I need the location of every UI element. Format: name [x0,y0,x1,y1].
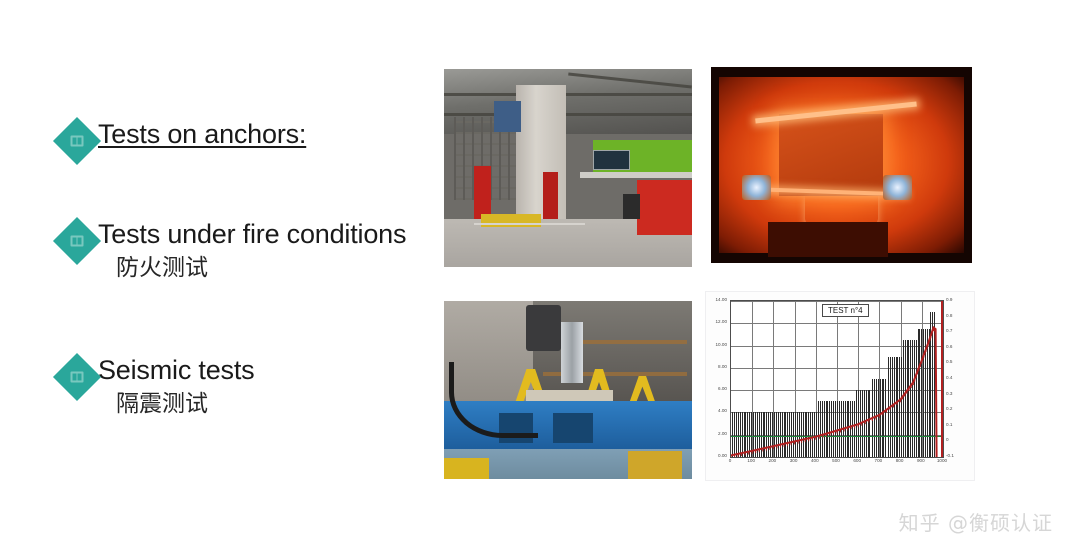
bullet-label-en: Tests on anchors: [98,120,306,150]
chart-right-axis-red [941,301,943,457]
chart-ytick-right: 0.7 [946,329,952,334]
furnace-shadow-zone [768,222,888,257]
chart-ytick-right: -0.1 [946,454,954,459]
chart-ytick-right: 0.5 [946,360,952,365]
chart-xtick: 1000 [933,459,951,464]
diamond-bullet-icon [53,217,101,265]
chart-ytick-right: 0.2 [946,407,952,412]
chart-xtick: 900 [912,459,930,464]
chart-xtick: 100 [742,459,760,464]
red-hydraulic-actuator [474,166,491,219]
chart-ytick-left: 6.00 [706,387,727,392]
diamond-bullet-icon [53,117,101,165]
steel-column-specimen [561,322,583,383]
bullet-text-group: Tests on anchors: [98,120,306,150]
anchor-point-left [742,175,771,200]
bullet-label-en: Tests under fire conditions [98,220,406,250]
bullet-label-en: Seismic tests [98,356,254,386]
chart-xtick: 700 [869,459,887,464]
chart-ytick-left: 4.00 [706,409,727,414]
watermark-text: 知乎 @衡硕认证 [899,507,1053,536]
bullet-list: Tests on anchors: Tests under fire condi… [0,0,440,544]
bullet-item-seismic-tests: Seismic tests 隔震测试 [60,356,254,417]
bullet-text-group: Tests under fire conditions 防火测试 [98,220,406,281]
chart-xtick: 600 [848,459,866,464]
fire-furnace-photo [711,67,972,263]
chart-xtick: 200 [763,459,781,464]
test-result-chart: TEST n°4 0.002.004.006.008.0010.0012.001… [705,291,975,481]
blue-actuator-arm [494,101,521,133]
diamond-inner-glyph-icon [71,236,84,247]
diamond-inner-glyph-icon [71,136,84,147]
bullet-text-group: Seismic tests 隔震测试 [98,356,254,417]
actuator-head [526,305,561,351]
hall-door [623,194,640,220]
yellow-stool [628,451,683,479]
chart-ytick-left: 2.00 [706,432,727,437]
chart-red-curve [731,301,943,457]
chart-ytick-left: 12.00 [706,320,727,325]
chart-ytick-right: 0.4 [946,376,952,381]
yellow-cart [444,458,489,479]
chart-ytick-right: 0 [946,438,949,443]
hall-beam [444,113,692,116]
chart-xtick: 500 [827,459,845,464]
diamond-bullet-icon [53,353,101,401]
chart-ytick-left: 8.00 [706,365,727,370]
diamond-inner-glyph-icon [71,372,84,383]
chart-ytick-left: 14.00 [706,298,727,303]
chart-ytick-right: 0.8 [946,314,952,319]
chart-ytick-left: 0.00 [706,454,727,459]
chart-ytick-right: 0.1 [946,423,952,428]
red-hydraulic-actuator [543,172,558,220]
chart-title-box: TEST n°4 [822,304,869,317]
chart-xtick: 400 [806,459,824,464]
walkway-gallery [580,172,692,178]
shake-table-photo [444,301,692,479]
bullet-item-tests-on-anchors: Tests on anchors: [60,120,306,158]
chart-ytick-right: 0.3 [946,392,952,397]
red-equipment-unit [637,180,692,235]
test-hall-photo [444,69,692,267]
anchor-point-right [883,175,912,200]
chart-plot-area [730,300,944,458]
chart-ytick-left: 10.00 [706,343,727,348]
heated-specimen-plate [779,114,883,196]
chart-ytick-right: 0.9 [946,298,952,303]
chart-xtick: 300 [785,459,803,464]
table-void [553,413,593,443]
bullet-item-fire-tests: Tests under fire conditions 防火测试 [60,220,406,281]
hall-beam [444,93,692,96]
bullet-label-zh: 防火测试 [116,253,406,282]
chart-ytick-right: 0.6 [946,345,952,350]
chart-xtick: 0 [721,459,739,464]
bullet-label-zh: 隔震测试 [116,389,254,418]
slide-canvas: Tests on anchors: Tests under fire condi… [0,0,1071,544]
chart-xtick: 800 [891,459,909,464]
control-room-window [593,150,630,170]
safety-railing [474,223,586,225]
